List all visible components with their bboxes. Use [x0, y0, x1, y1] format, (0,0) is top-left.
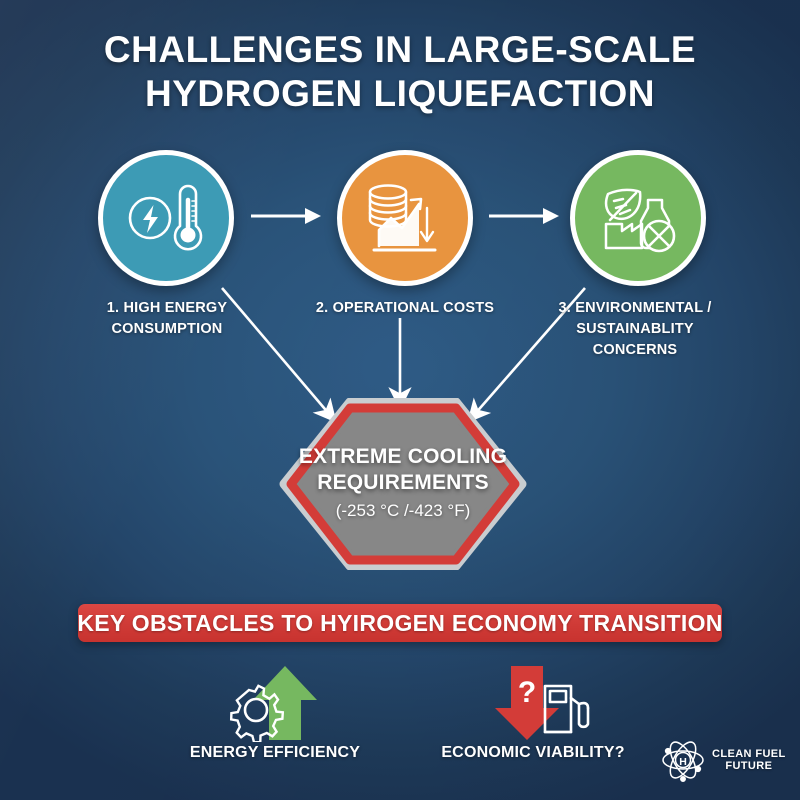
flow-arrow-2-to-3 [487, 205, 561, 227]
title-line-1: CHALLENGES IN LARGE-SCALE [104, 29, 696, 70]
feature-1-caption: ENERGY EFFICIENCY [160, 744, 390, 762]
flow-arrow-1-to-2 [249, 205, 323, 227]
title-line-2: HYDROGEN LIQUEFACTION [0, 72, 800, 116]
step-label-2: 2. OPERATIONAL COSTS [300, 298, 510, 319]
step-label-3-line1: 3. ENVIRONMENTAL / [545, 298, 725, 319]
feature-2-art: ? [418, 664, 648, 742]
infographic-canvas: CHALLENGES IN LARGE-SCALE HYDROGEN LIQUE… [0, 0, 800, 800]
coins-chart-icon [363, 178, 447, 258]
leaf-factory-icon [596, 178, 680, 258]
feature-2-caption: ECONOMIC VIABILITY? [418, 744, 648, 762]
feature-energy-efficiency[interactable]: ENERGY EFFICIENCY [160, 664, 390, 762]
energy-thermometer-icon [123, 178, 209, 258]
step-label-3-line3: CONCERNS [545, 340, 725, 361]
page-title: CHALLENGES IN LARGE-SCALE HYDROGEN LIQUE… [0, 28, 800, 116]
step-label-3-line2: SUSTAINABLITY [545, 319, 725, 340]
step-label-1-line1: 1. HIGH ENERGY [72, 298, 262, 319]
logo-text-line-2: FUTURE [712, 760, 786, 773]
step-label-2-line1: 2. OPERATIONAL COSTS [300, 298, 510, 319]
hexagon-callout[interactable] [278, 398, 528, 570]
step-label-3: 3. ENVIRONMENTAL / SUSTAINABLITY CONCERN… [545, 298, 725, 361]
step-icon-circle-1[interactable] [98, 150, 234, 286]
step-icon-circle-2[interactable] [337, 150, 473, 286]
feature-1-art [160, 664, 390, 742]
up-arrow-gear-icon [213, 664, 343, 742]
down-arrow-fuel-pump-icon: ? [469, 664, 599, 742]
logo-text-line-1: CLEAN FUEL [712, 748, 786, 761]
key-obstacles-banner[interactable]: KEY OBSTACLES TO HYIROGEN ECONOMY TRANSI… [78, 604, 722, 642]
brand-logo[interactable]: H CLEAN FUEL FUTURE [660, 738, 786, 782]
step-label-1: 1. HIGH ENERGY CONSUMPTION [72, 298, 262, 340]
logo-text: CLEAN FUEL FUTURE [712, 748, 786, 773]
banner-text: KEY OBSTACLES TO HYIROGEN ECONOMY TRANSI… [77, 610, 722, 637]
question-mark-glyph: ? [518, 676, 536, 709]
step-label-1-line2: CONSUMPTION [72, 319, 262, 340]
atom-hydrogen-icon: H [660, 738, 706, 782]
logo-h-glyph: H [679, 756, 687, 768]
step-icon-circle-3[interactable] [570, 150, 706, 286]
feature-economic-viability[interactable]: ? ECONOMIC VIABILITY? [418, 664, 648, 762]
up-arrow-shape [253, 666, 317, 740]
